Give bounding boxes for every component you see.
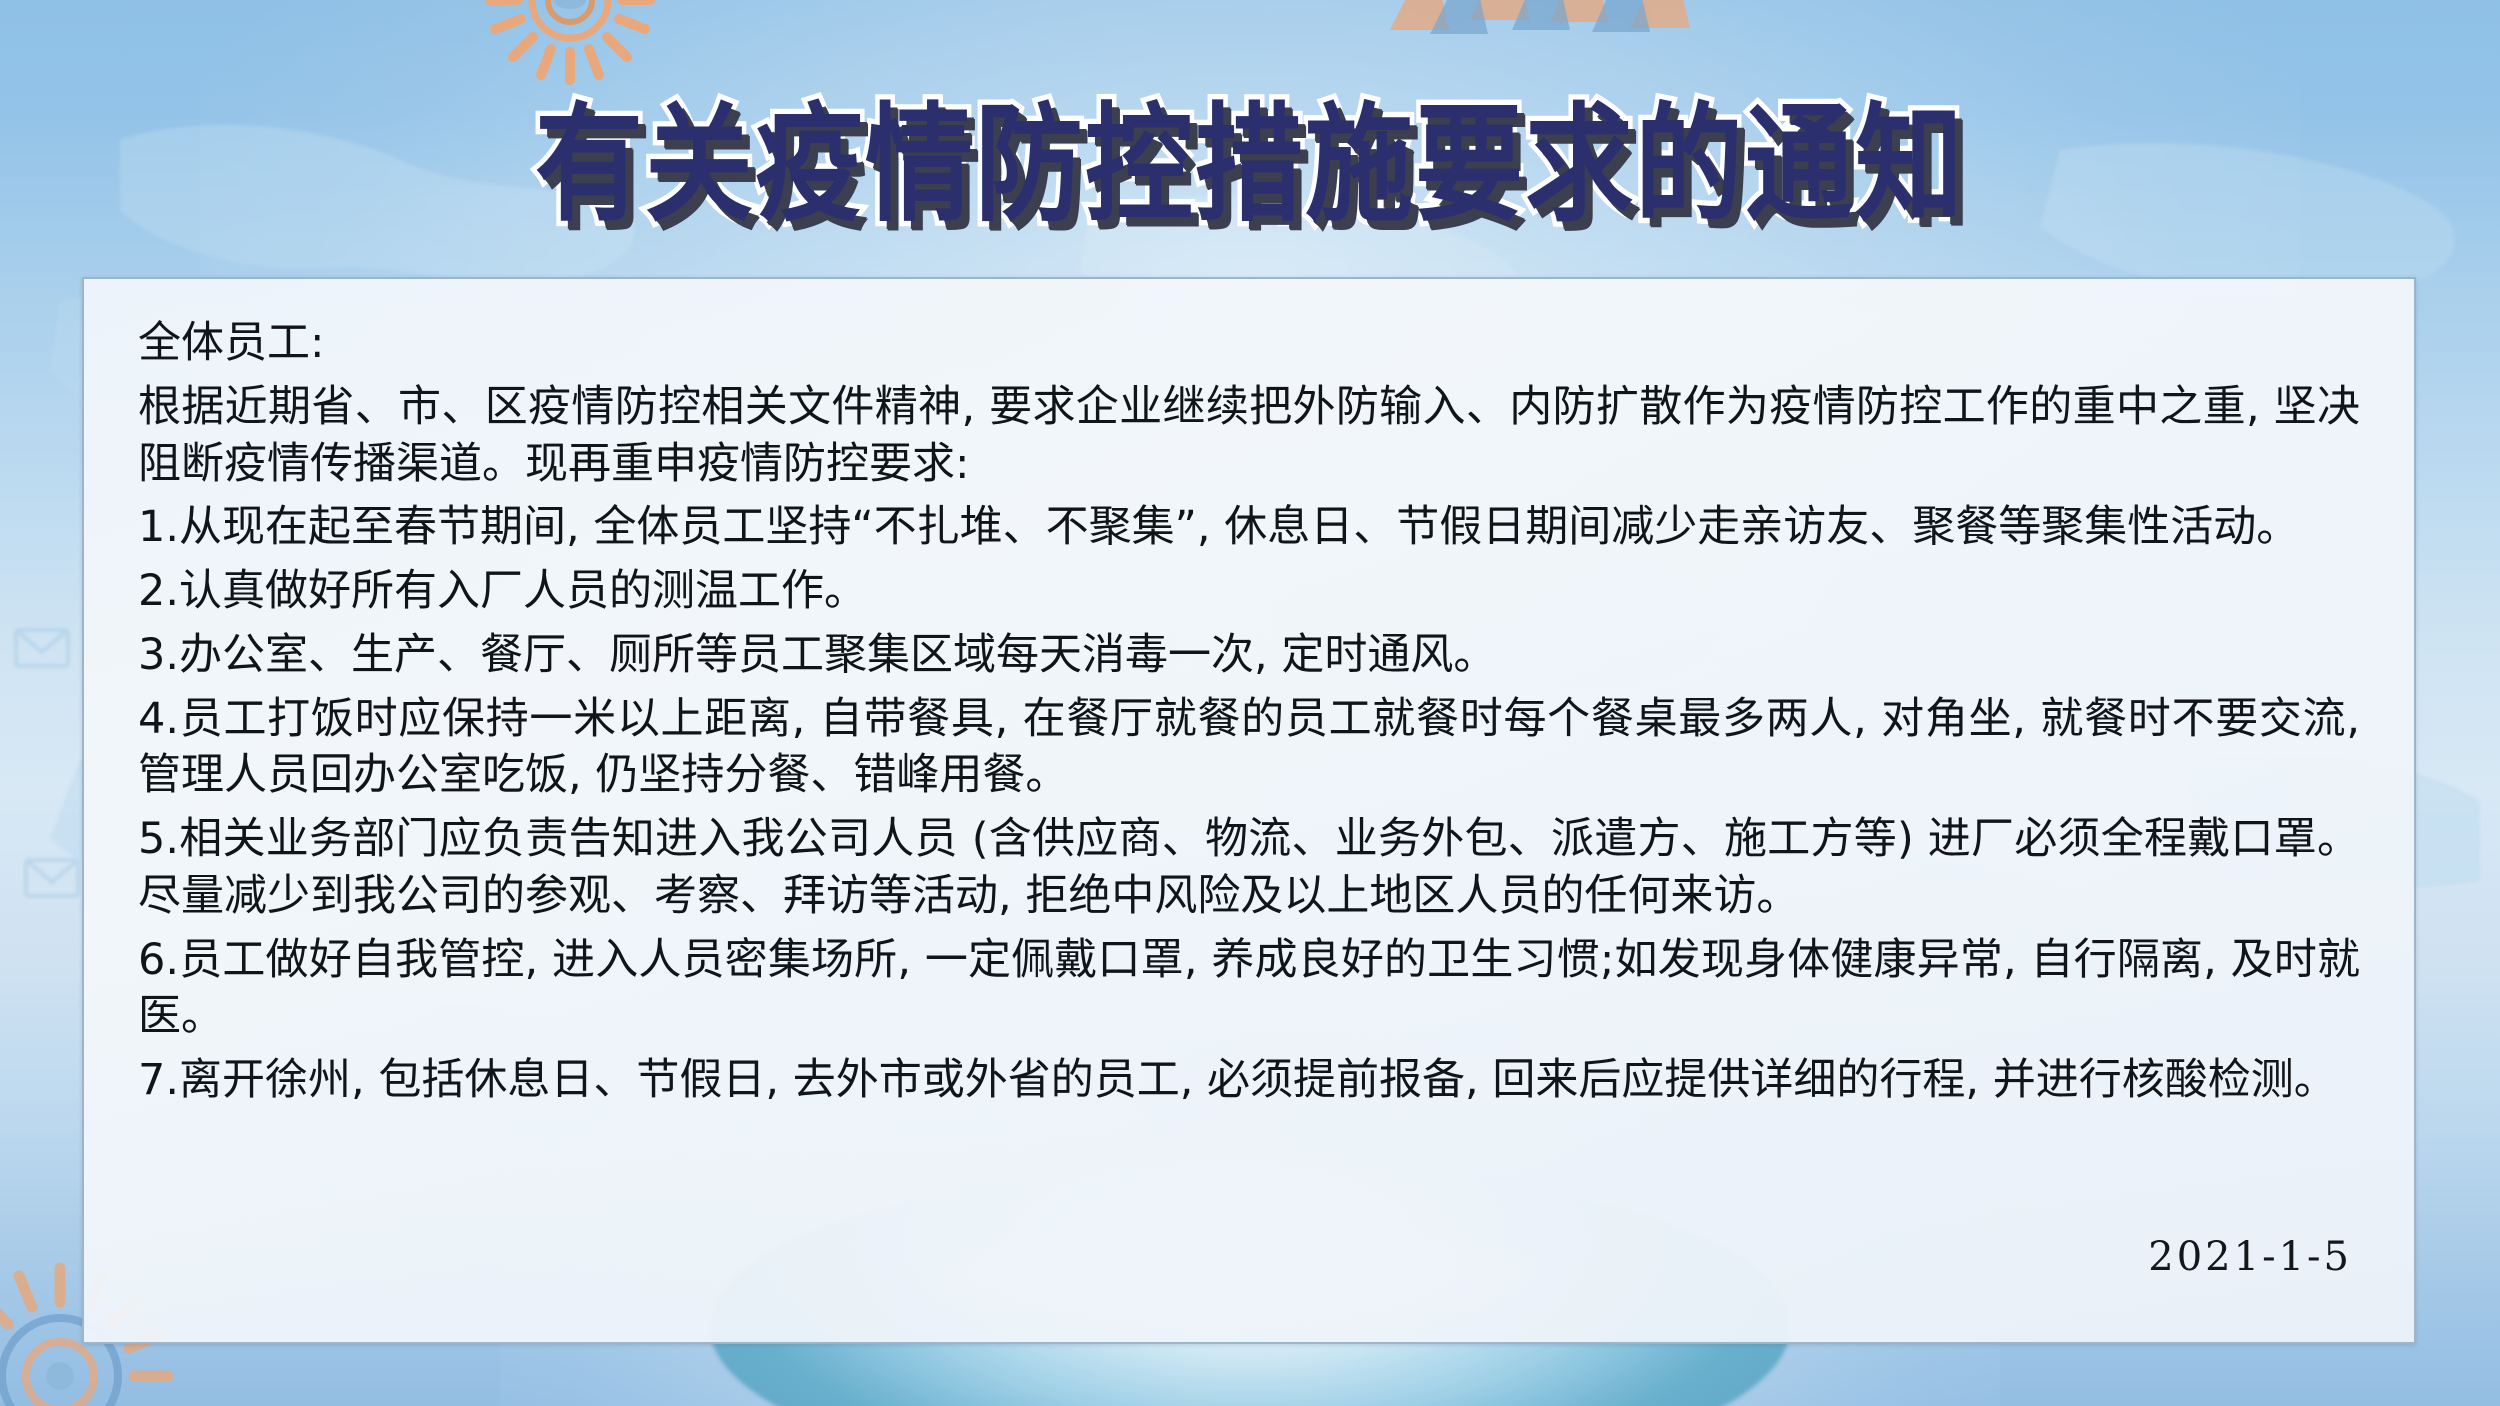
salutation: 全体员工: (138, 315, 2360, 372)
notice-item-7: 7.离开徐州, 包括休息日、节假日, 去外市或外省的员工, 必须提前报备, 回来… (138, 1052, 2360, 1109)
notice-item-1: 1.从现在起至春节期间, 全体员工坚持“不扎堆、不聚集”, 休息日、节假日期间减… (138, 499, 2360, 556)
title-container: 有关疫情防控措施要求的通知 (0, 62, 2500, 218)
page-title: 有关疫情防控措施要求的通知 (535, 62, 1965, 246)
notice-item-6: 6.员工做好自我管控, 进入人员密集场所, 一定佩戴口罩, 养成良好的卫生习惯;… (138, 932, 2360, 1046)
notice-item-4: 4.员工打饭时应保持一米以上距离, 自带餐具, 在餐厅就餐的员工就餐时每个餐桌最… (138, 691, 2360, 805)
notice-panel: 全体员工: 根据近期省、市、区疫情防控相关文件精神, 要求企业继续把外防输入、内… (82, 277, 2416, 1344)
poster-canvas: 有关疫情防控措施要求的通知 全体员工: 根据近期省、市、区疫情防控相关文件精神,… (0, 0, 2500, 1406)
notice-date: 2021-1-5 (2148, 1234, 2352, 1280)
notice-item-3: 3.办公室、生产、餐厅、厕所等员工聚集区域每天消毒一次, 定时通风。 (138, 627, 2360, 684)
notice-item-5: 5.相关业务部门应负责告知进入我公司人员 (含供应商、物流、业务外包、派遣方、施… (138, 811, 2360, 925)
intro-paragraph: 根据近期省、市、区疫情防控相关文件精神, 要求企业继续把外防输入、内防扩散作为疫… (138, 379, 2360, 493)
notice-body: 全体员工: 根据近期省、市、区疫情防控相关文件精神, 要求企业继续把外防输入、内… (138, 315, 2360, 1109)
notice-item-2: 2.认真做好所有入厂人员的测温工作。 (138, 563, 2360, 620)
